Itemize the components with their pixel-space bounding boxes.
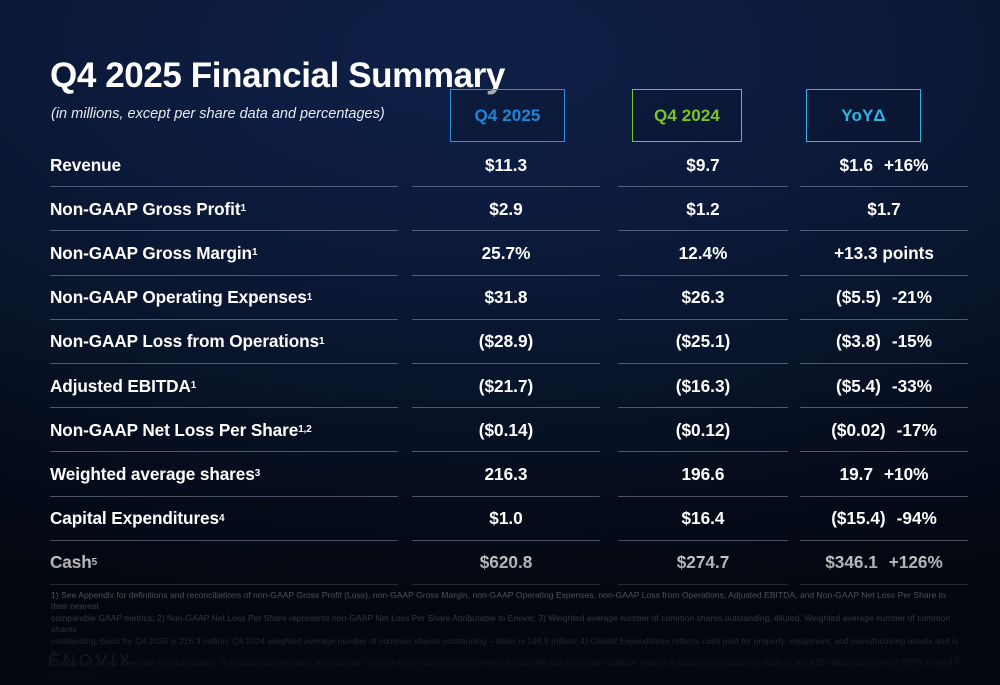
cell-q4-2025: ($0.14)	[412, 408, 600, 452]
cell-yoy-delta: ($0.02)-17%	[800, 408, 968, 452]
yoy-pair: ($5.5)-21%	[836, 287, 932, 308]
yoy-percent: +16%	[884, 155, 928, 176]
column-header-q4-2025[interactable]: Q4 2025	[450, 89, 565, 142]
yoy-pair: ($0.02)-17%	[831, 420, 937, 441]
table-row: Non-GAAP Gross Margin125.7%12.4%+13.3 po…	[0, 231, 1000, 275]
table-row: Non-GAAP Gross Profit1$2.9$1.2$1.7	[0, 187, 1000, 231]
row-label-text: Non-GAAP Loss from Operations	[50, 331, 319, 352]
row-label: Cash5	[50, 541, 398, 585]
table-row: Non-GAAP Net Loss Per Share1,2($0.14)($0…	[0, 408, 1000, 452]
yoy-pair: +13.3 points	[834, 243, 934, 264]
cell-q4-2024: ($25.1)	[618, 320, 788, 364]
cell-yoy-delta: ($5.4)-33%	[800, 364, 968, 408]
yoy-value: +13.3 points	[834, 243, 934, 264]
yoy-pair: ($3.8)-15%	[836, 331, 932, 352]
yoy-value: 19.7	[840, 464, 873, 485]
row-label: Non-GAAP Operating Expenses1	[50, 276, 398, 320]
yoy-value: ($3.8)	[836, 331, 881, 352]
cell-q4-2024: 12.4%	[618, 231, 788, 275]
yoy-value: ($0.02)	[831, 420, 885, 441]
footnote-line-2: comparable GAAP metrics; 2) Non-GAAP Net…	[51, 613, 959, 636]
yoy-pair: $1.7	[867, 199, 900, 220]
cell-q4-2025: $31.8	[412, 276, 600, 320]
cell-q4-2025: 216.3	[412, 452, 600, 496]
row-label: Non-GAAP Net Loss Per Share1,2	[50, 408, 398, 452]
row-label-text: Non-GAAP Net Loss Per Share	[50, 420, 298, 441]
table-row: Non-GAAP Loss from Operations1($28.9)($2…	[0, 320, 1000, 364]
cell-q4-2025: $11.3	[412, 143, 600, 187]
yoy-pair: ($5.4)-33%	[836, 376, 932, 397]
cell-q4-2025: ($28.9)	[412, 320, 600, 364]
row-label: Non-GAAP Loss from Operations1	[50, 320, 398, 364]
table-row: Adjusted EBITDA1($21.7)($16.3)($5.4)-33%	[0, 364, 1000, 408]
row-label-text: Revenue	[50, 155, 121, 176]
table-row: Cash5$620.8$274.7$346.1+126%	[0, 541, 1000, 585]
row-label-text: Non-GAAP Gross Margin	[50, 243, 252, 264]
row-label: Non-GAAP Gross Margin1	[50, 231, 398, 275]
cell-yoy-delta: ($15.4)-94%	[800, 497, 968, 541]
copyright-text: © 2026 Enovix Corporation	[48, 673, 134, 680]
yoy-value: $1.7	[867, 199, 900, 220]
row-divider	[618, 584, 788, 585]
yoy-pair: $346.1+126%	[825, 552, 943, 573]
table-column-headers: Q4 2025 Q4 2024 YoYΔ	[0, 89, 1000, 143]
cell-q4-2024: $274.7	[618, 541, 788, 585]
yoy-value: $346.1	[825, 552, 878, 573]
cell-yoy-delta: $1.7	[800, 187, 968, 231]
cell-q4-2025: 25.7%	[412, 231, 600, 275]
yoy-percent: +10%	[884, 464, 928, 485]
table-row: Revenue$11.3$9.7$1.6+16%	[0, 143, 1000, 187]
cell-yoy-delta: ($5.5)-21%	[800, 276, 968, 320]
yoy-percent: -94%	[897, 508, 937, 529]
cell-q4-2024: $1.2	[618, 187, 788, 231]
slide: Q4 2025 Financial Summary (in millions, …	[0, 0, 1000, 685]
yoy-pair: $1.6+16%	[840, 155, 929, 176]
yoy-percent: -15%	[892, 331, 932, 352]
cell-q4-2024: $9.7	[618, 143, 788, 187]
footnote-line-4: component of our free cash flow calculat…	[51, 658, 959, 681]
cell-q4-2024: ($0.12)	[618, 408, 788, 452]
cell-yoy-delta: $1.6+16%	[800, 143, 968, 187]
yoy-pair: 19.7+10%	[840, 464, 929, 485]
yoy-value: ($5.5)	[836, 287, 881, 308]
cell-q4-2025: $1.0	[412, 497, 600, 541]
yoy-percent: +126%	[889, 552, 943, 573]
cell-q4-2024: $16.4	[618, 497, 788, 541]
footnote-line-5: 5) Cash, cash equivalents, and marketabl…	[51, 681, 959, 685]
row-label-text: Non-GAAP Operating Expenses	[50, 287, 307, 308]
row-label: Revenue	[50, 143, 398, 187]
cell-q4-2024: ($16.3)	[618, 364, 788, 408]
cell-yoy-delta: ($3.8)-15%	[800, 320, 968, 364]
cell-q4-2025: ($21.7)	[412, 364, 600, 408]
yoy-value: $1.6	[840, 155, 873, 176]
cell-q4-2025: $620.8	[412, 541, 600, 585]
financial-table: Revenue$11.3$9.7$1.6+16%Non-GAAP Gross P…	[0, 143, 1000, 585]
row-divider	[50, 584, 398, 585]
row-divider	[800, 584, 968, 585]
cell-yoy-delta: +13.3 points	[800, 231, 968, 275]
logo-wordmark: ENOVIX	[48, 652, 134, 669]
row-label-text: Adjusted EBITDA	[50, 376, 191, 397]
row-label: Capital Expenditures4	[50, 497, 398, 541]
row-label: Adjusted EBITDA1	[50, 364, 398, 408]
row-label-text: Weighted average shares	[50, 464, 255, 485]
row-label: Non-GAAP Gross Profit1	[50, 187, 398, 231]
yoy-pair: ($15.4)-94%	[831, 508, 937, 529]
row-divider	[412, 584, 600, 585]
table-row: Capital Expenditures4$1.0$16.4($15.4)-94…	[0, 497, 1000, 541]
yoy-value: ($15.4)	[831, 508, 885, 529]
cell-q4-2024: 196.6	[618, 452, 788, 496]
row-label: Weighted average shares3	[50, 452, 398, 496]
enovix-logo: ENOVIX © 2026 Enovix Corporation	[48, 652, 134, 680]
table-row: Non-GAAP Operating Expenses1$31.8$26.3($…	[0, 276, 1000, 320]
column-header-yoy-delta[interactable]: YoYΔ	[806, 89, 921, 142]
row-label-text: Cash	[50, 552, 92, 573]
cell-yoy-delta: 19.7+10%	[800, 452, 968, 496]
footnote-line-1: 1) See Appendix for definitions and reco…	[51, 590, 959, 613]
row-label-text: Capital Expenditures	[50, 508, 219, 529]
footer-divider	[148, 659, 960, 660]
table-row: Weighted average shares3216.3196.619.7+1…	[0, 452, 1000, 496]
row-label-text: Non-GAAP Gross Profit	[50, 199, 240, 220]
column-header-q4-2024[interactable]: Q4 2024	[632, 89, 742, 142]
cell-q4-2024: $26.3	[618, 276, 788, 320]
cell-yoy-delta: $346.1+126%	[800, 541, 968, 585]
footnote-line-3: outstanding, basic for Q4 2025 is 216.3 …	[51, 636, 959, 659]
yoy-value: ($5.4)	[836, 376, 881, 397]
yoy-percent: -33%	[892, 376, 932, 397]
footnotes: 1) See Appendix for definitions and reco…	[51, 590, 959, 685]
cell-q4-2025: $2.9	[412, 187, 600, 231]
yoy-percent: -21%	[892, 287, 932, 308]
yoy-percent: -17%	[897, 420, 937, 441]
page-number: 15	[948, 655, 960, 667]
